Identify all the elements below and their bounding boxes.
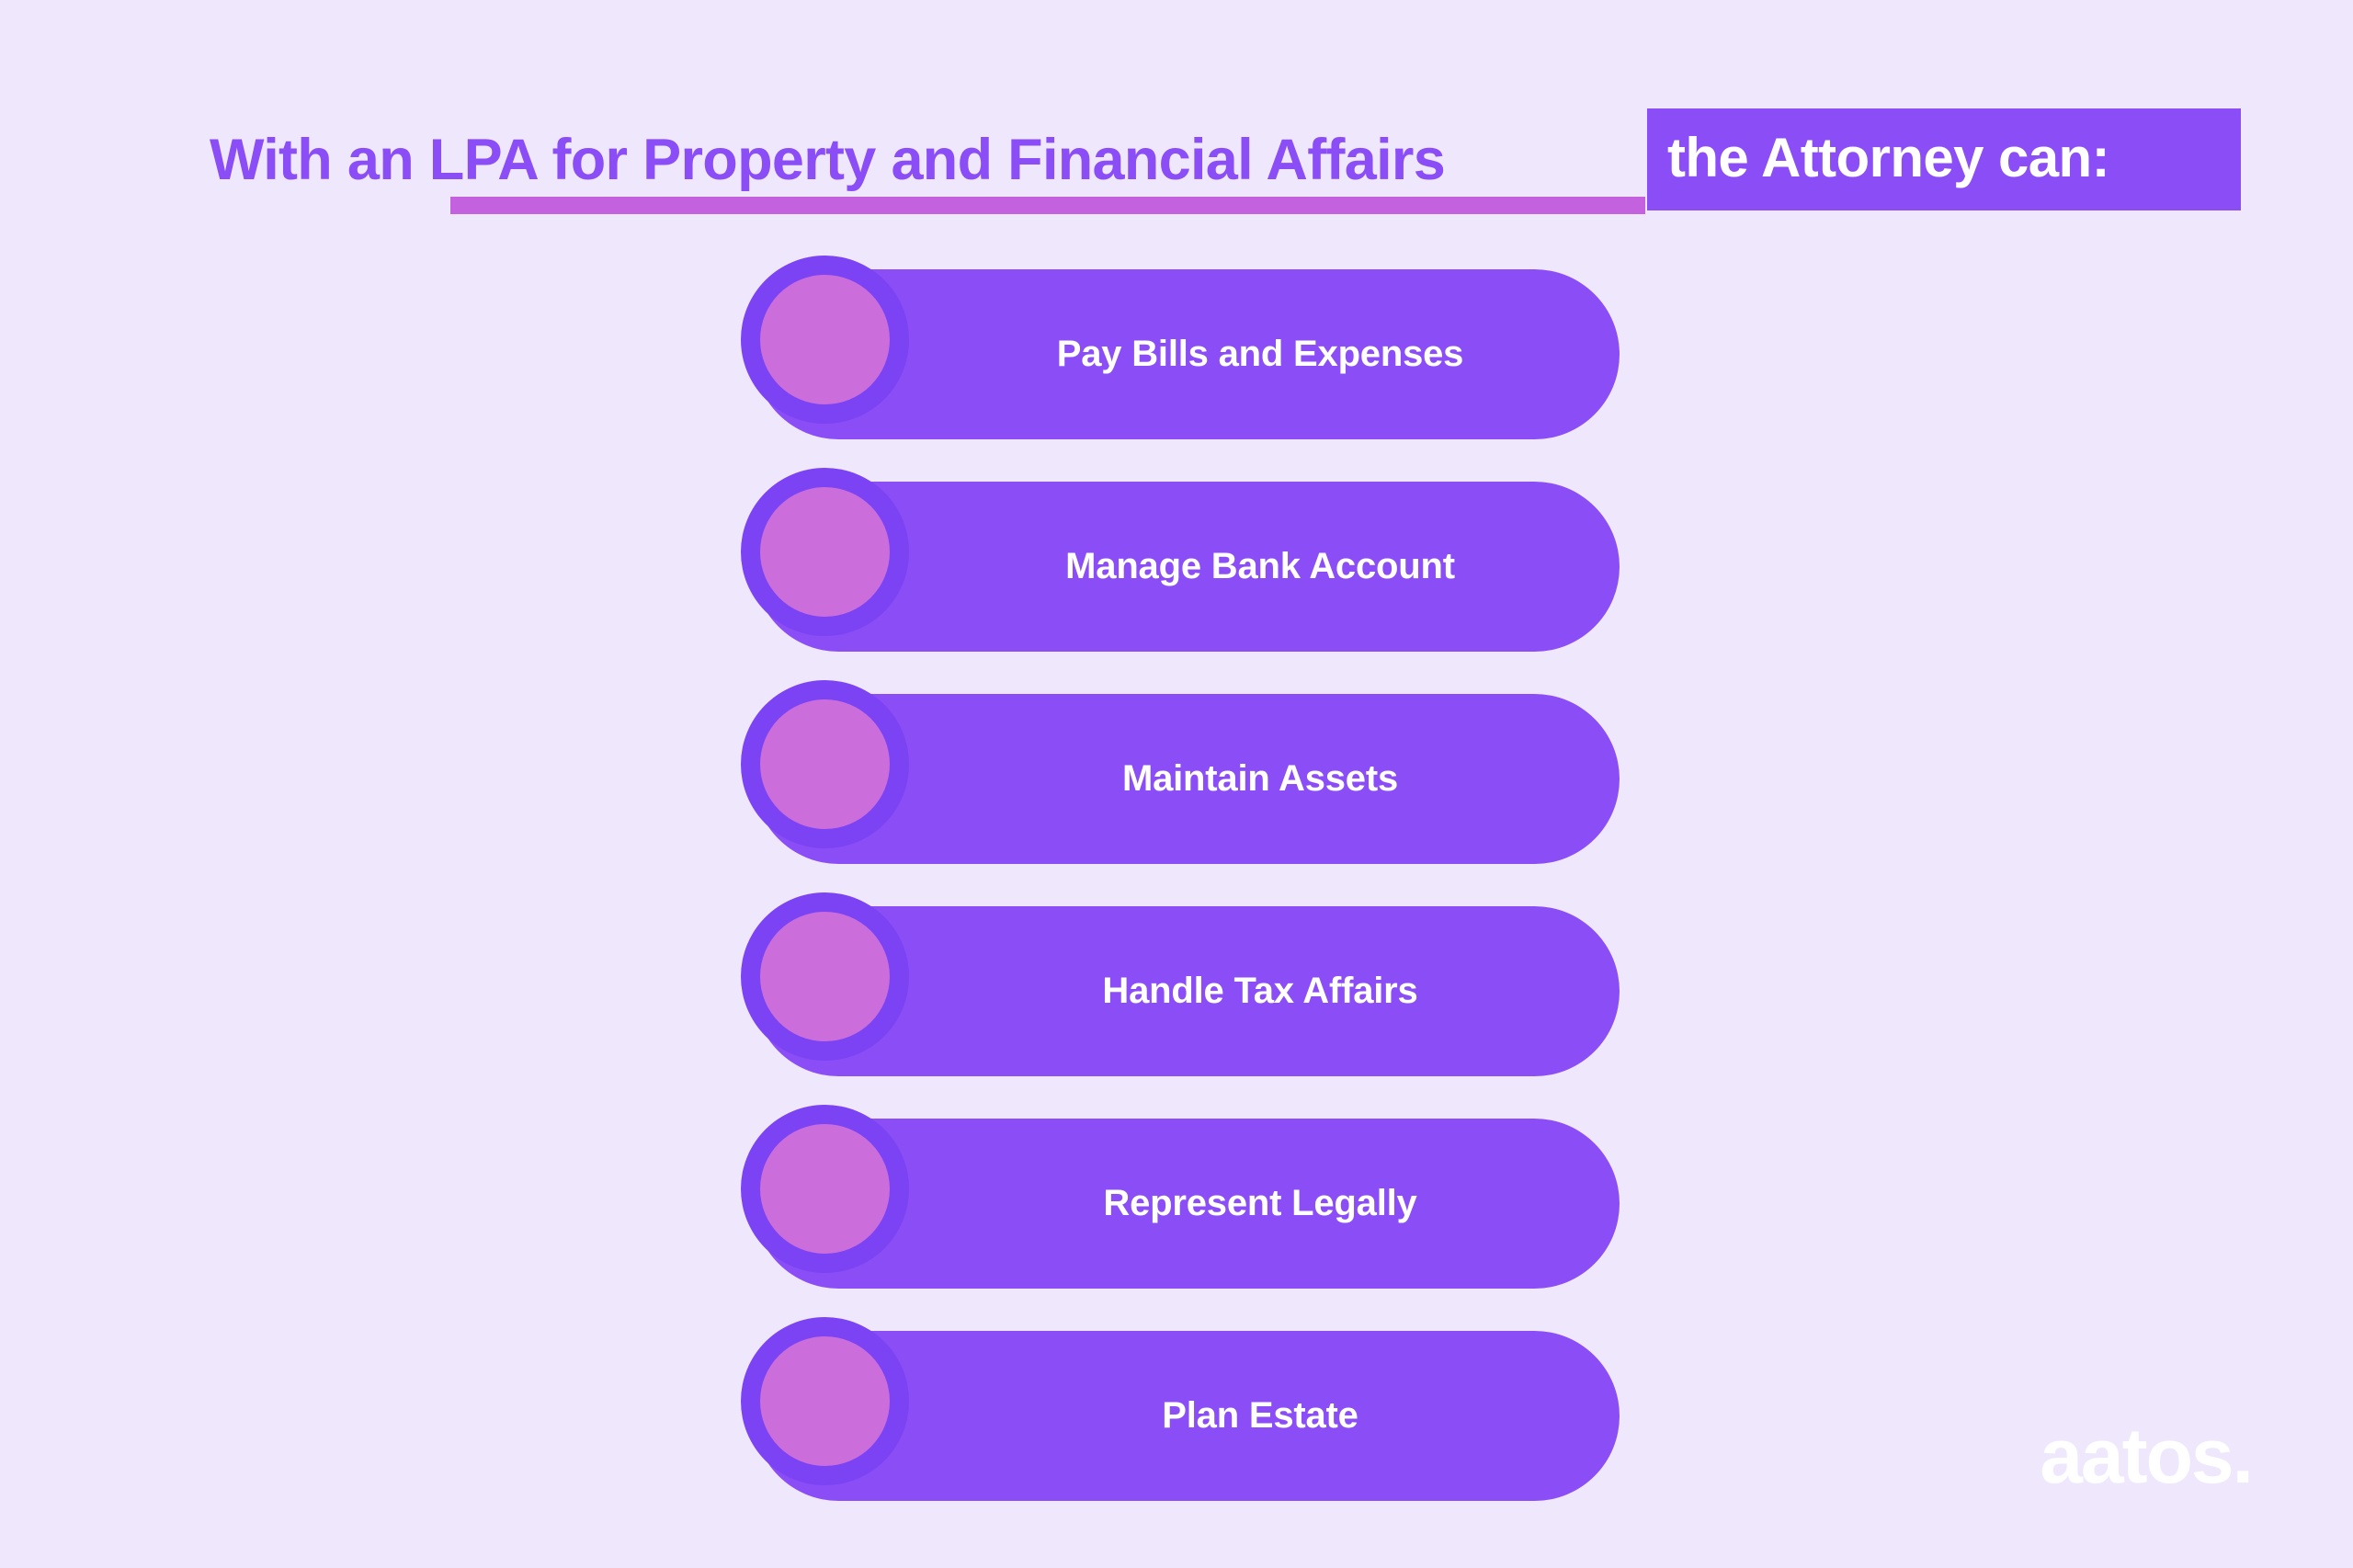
infographic-canvas: With an LPA for Property and Financial A…: [0, 0, 2353, 1568]
bullet-inner-dot: [760, 1336, 890, 1466]
bullet-inner-dot: [760, 487, 890, 617]
bullet-inner-dot: [760, 1124, 890, 1254]
list-item-label: Plan Estate: [901, 1331, 1620, 1501]
bullet-inner-dot: [760, 699, 890, 829]
list-item-label: Manage Bank Account: [901, 482, 1620, 652]
title-highlight-box: the Attorney can:: [1647, 108, 2241, 210]
list-item: Pay Bills and Expenses: [0, 269, 2353, 439]
powers-list: Pay Bills and Expenses Manage Bank Accou…: [0, 269, 2353, 1543]
list-item-label: Maintain Assets: [901, 694, 1620, 864]
page-title: With an LPA for Property and Financial A…: [210, 108, 1445, 211]
list-item: Manage Bank Account: [0, 482, 2353, 652]
list-item-label: Represent Legally: [901, 1119, 1620, 1289]
list-item-label: Handle Tax Affairs: [901, 906, 1620, 1076]
list-item: Handle Tax Affairs: [0, 906, 2353, 1076]
title-container: With an LPA for Property and Financial A…: [210, 108, 1445, 211]
list-item: Represent Legally: [0, 1119, 2353, 1289]
title-highlight-text: the Attorney can:: [1667, 131, 2109, 186]
list-item: Plan Estate: [0, 1331, 2353, 1501]
list-item-label: Pay Bills and Expenses: [901, 269, 1620, 439]
bullet-inner-dot: [760, 275, 890, 404]
brand-logo: aatos.: [2040, 1417, 2252, 1494]
header: With an LPA for Property and Financial A…: [0, 0, 2353, 230]
bullet-inner-dot: [760, 912, 890, 1041]
list-item: Maintain Assets: [0, 694, 2353, 864]
